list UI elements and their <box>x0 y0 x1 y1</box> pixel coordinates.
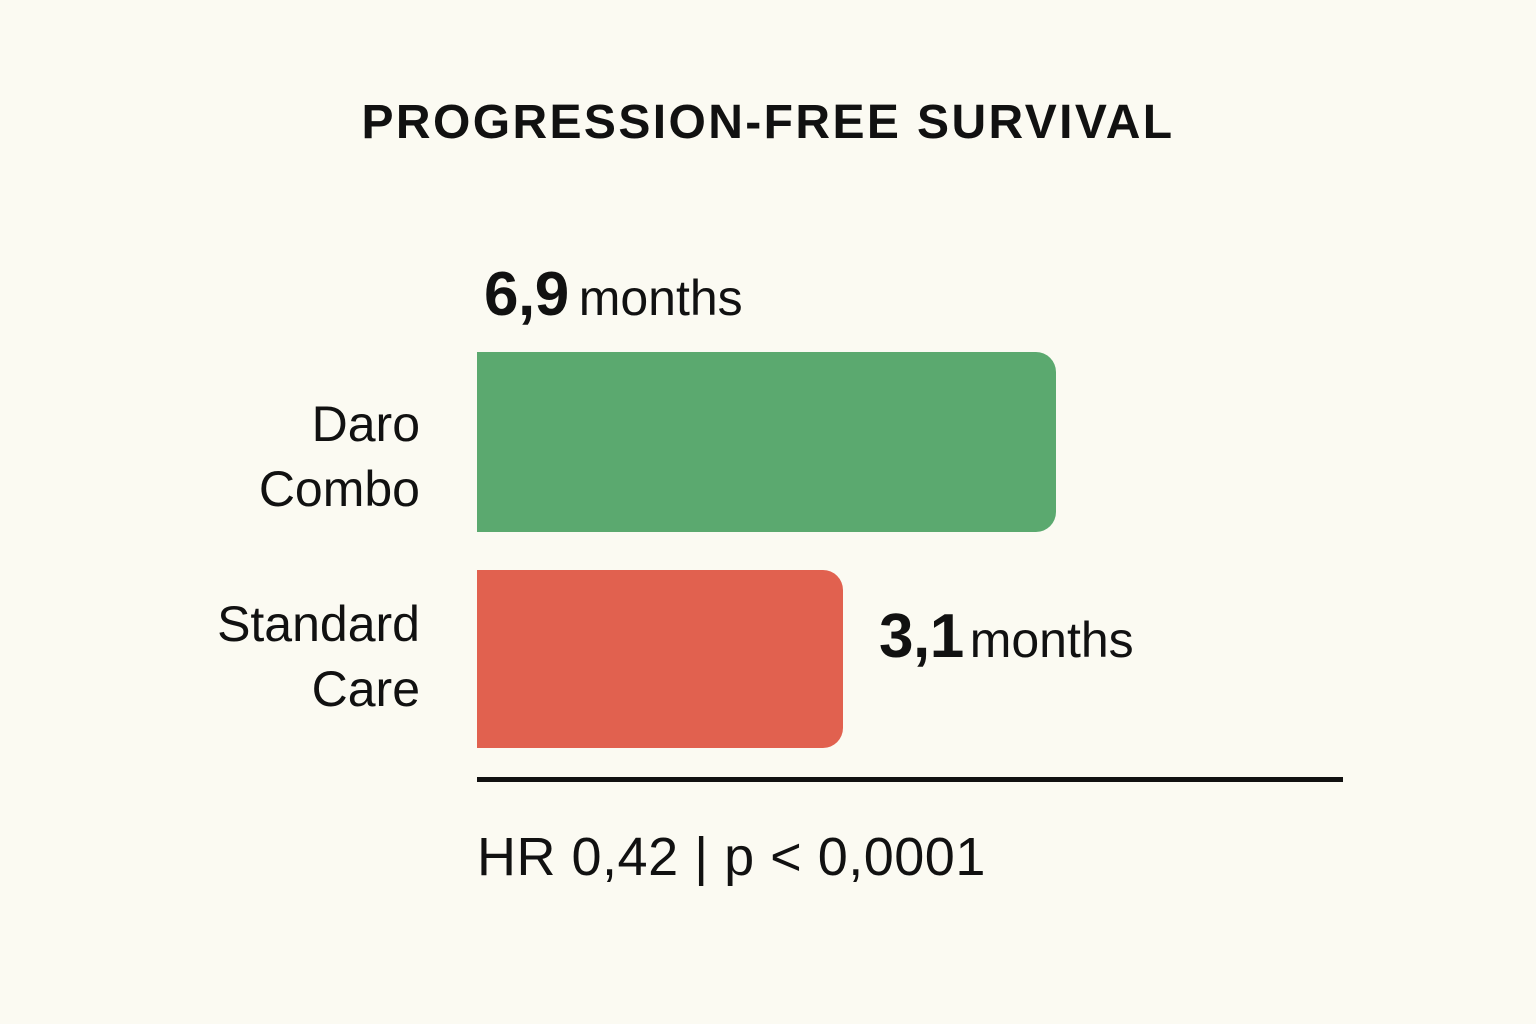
category-label-daro-combo-line2: Combo <box>0 457 420 522</box>
category-label-standard-care-line2: Care <box>0 657 420 722</box>
bar-standard-care <box>477 570 843 748</box>
value-unit-standard-care: months <box>970 612 1134 668</box>
chart-title: PROGRESSION-FREE SURVIVAL <box>0 98 1536 148</box>
chart-container: PROGRESSION-FREE SURVIVAL 6,9months Daro… <box>0 0 1536 1024</box>
value-number-standard-care: 3,1 <box>879 602 964 671</box>
value-annotation-daro-combo: 6,9months <box>484 264 743 326</box>
value-annotation-standard-care: 3,1months <box>879 606 1134 668</box>
bar-daro-combo <box>477 352 1056 532</box>
value-number-daro-combo: 6,9 <box>484 260 569 329</box>
category-label-standard-care-line1: Standard <box>217 596 420 652</box>
statistics-footer: HR 0,42 | p < 0,0001 <box>477 826 986 888</box>
category-label-daro-combo-line1: Daro <box>312 396 420 452</box>
category-label-daro-combo: Daro Combo <box>0 392 420 522</box>
value-unit-daro-combo: months <box>579 270 743 326</box>
category-label-standard-care: Standard Care <box>0 592 420 722</box>
axis-baseline <box>477 777 1343 782</box>
